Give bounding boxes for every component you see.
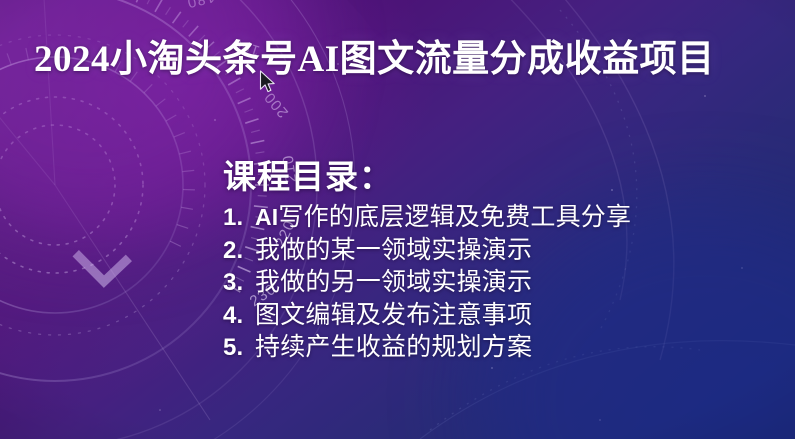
dial-label: 200 (261, 88, 292, 120)
course-item-text: 图文编辑及发布注意事项 (255, 302, 532, 329)
course-item-number: 4. (223, 300, 249, 331)
course-outline: 课程目录： 1.AI写作的底层逻辑及免费工具分享2.我做的某一领域实操演示3.我… (223, 158, 631, 365)
course-heading: 课程目录： (223, 158, 631, 198)
course-item-number: 5. (223, 332, 249, 363)
dial-label: 180 (185, 0, 216, 11)
course-list-item: 3.我做的另一领域实操演示 (223, 267, 631, 300)
course-item-number: 2. (223, 235, 249, 266)
course-list-item: 2.我做的某一领域实操演示 (223, 235, 631, 268)
course-item-label: AI写作的底层逻辑及免费工具分享 (255, 202, 631, 235)
course-item-number: 3. (223, 267, 249, 298)
course-list-item: 5.持续产生收益的规划方案 (223, 332, 631, 365)
chevron-pointer-icon (76, 246, 132, 285)
slide-title: 2024小淘头条号AI图文流量分成收益项目 (34, 39, 774, 80)
course-item-number: 1. (223, 202, 249, 233)
course-item-label: 我做的某一领域实操演示 (255, 235, 532, 268)
course-item-latin: AI (255, 204, 278, 230)
course-item-text: 写作的底层逻辑及免费工具分享 (278, 204, 631, 231)
slide-canvas: 170 180 190 200 210 220 230 (0, 0, 795, 439)
course-list-item: 4.图文编辑及发布注意事项 (223, 300, 631, 333)
course-item-label: 图文编辑及发布注意事项 (255, 300, 532, 333)
course-list: 1.AI写作的底层逻辑及免费工具分享2.我做的某一领域实操演示3.我做的另一领域… (223, 202, 631, 365)
course-list-item: 1.AI写作的底层逻辑及免费工具分享 (223, 202, 631, 235)
course-item-text: 我做的另一领域实操演示 (255, 269, 532, 296)
course-item-label: 我做的另一领域实操演示 (255, 267, 532, 300)
course-item-text: 持续产生收益的规划方案 (255, 334, 532, 361)
course-item-text: 我做的某一领域实操演示 (255, 237, 532, 264)
course-item-label: 持续产生收益的规划方案 (255, 332, 532, 365)
